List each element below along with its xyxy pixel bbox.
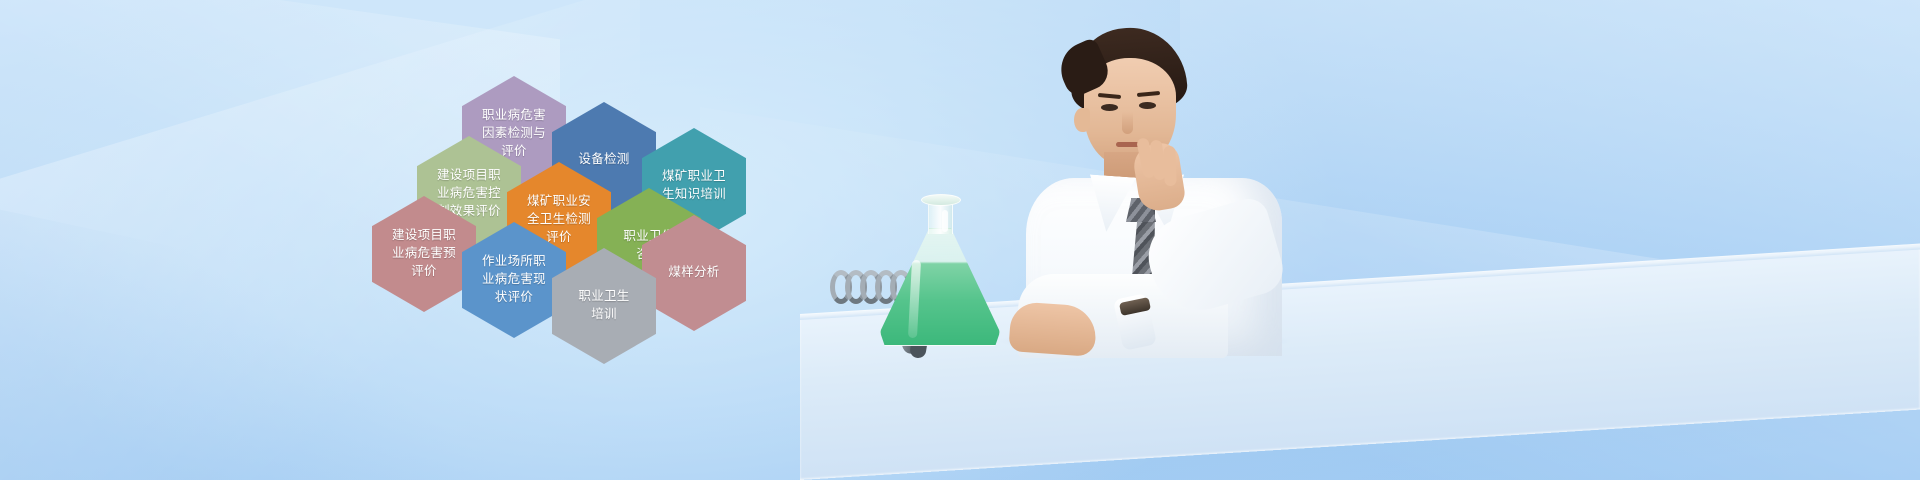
banner-root: 职业病危害 因素检测与 评价设备检测煤矿职业卫 生知识培训建设项目职 业病危害控… — [0, 0, 1920, 480]
eye-right — [1139, 102, 1156, 109]
service-hexagon-cluster: 职业病危害 因素检测与 评价设备检测煤矿职业卫 生知识培训建设项目职 业病危害控… — [340, 60, 760, 350]
finger-3 — [1163, 146, 1176, 186]
flask-body — [880, 228, 1000, 346]
eye-left — [1101, 104, 1118, 111]
flask-lip — [921, 194, 961, 206]
flask-neck-highlight — [942, 210, 948, 232]
erlenmeyer-flask — [880, 186, 1000, 346]
male-lab-worker — [1000, 28, 1300, 350]
ear — [1074, 108, 1090, 132]
nose — [1122, 112, 1133, 134]
